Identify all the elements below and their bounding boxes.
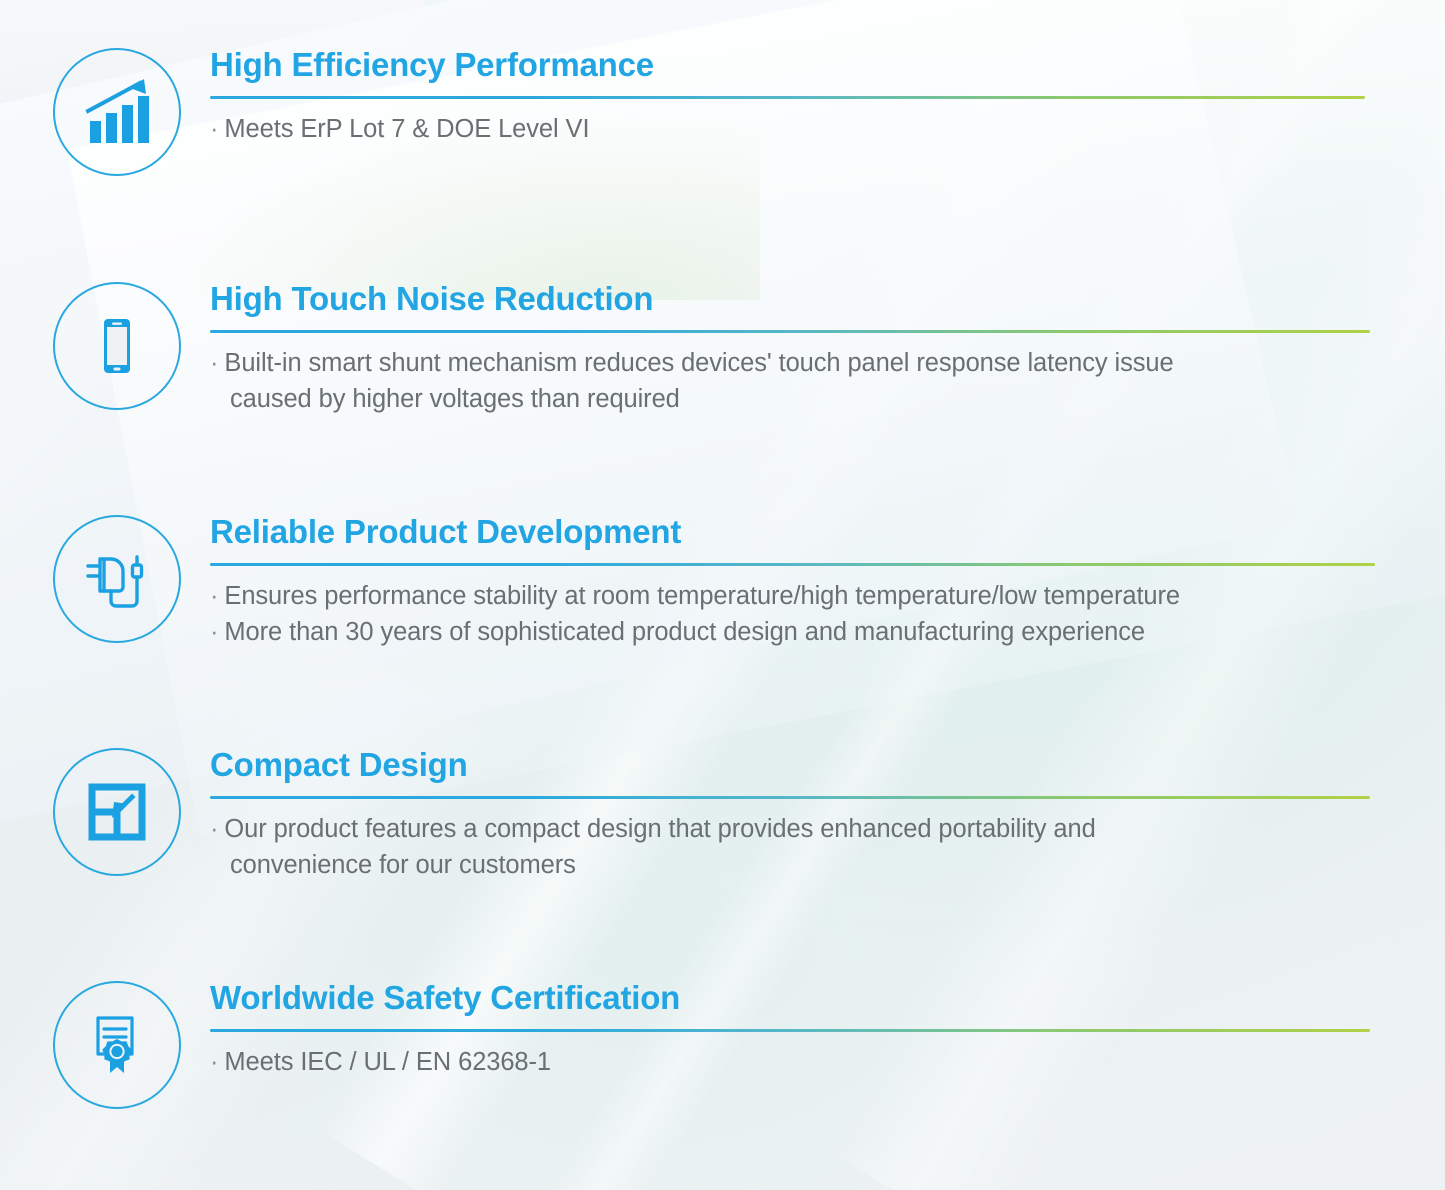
- bullet-item: ·Meets ErP Lot 7 & DOE Level VI: [210, 112, 1365, 148]
- bullet-item: ·Ensures performance stability at room t…: [210, 579, 1375, 615]
- feature-body: Worldwide Safety Certification ·Meets IE…: [210, 981, 1370, 1081]
- feature-title: High Touch Noise Reduction: [210, 282, 1370, 317]
- feature-bullets: ·Built-in smart shunt mechanism reduces …: [210, 346, 1370, 418]
- feature-item-high-efficiency-performance: High Efficiency Performance ·Meets ErP L…: [53, 48, 1365, 176]
- feature-title: Reliable Product Development: [210, 515, 1375, 550]
- bullet-dot: ·: [210, 349, 218, 377]
- feature-bullets: ·Meets ErP Lot 7 & DOE Level VI: [210, 112, 1365, 148]
- bullet-dot: ·: [210, 815, 218, 843]
- bullet-dot: ·: [210, 115, 218, 143]
- feature-item-worldwide-safety-certification: Worldwide Safety Certification ·Meets IE…: [53, 981, 1370, 1109]
- feature-bullets: ·Meets IEC / UL / EN 62368-1: [210, 1045, 1370, 1081]
- feature-divider: [210, 563, 1375, 566]
- feature-page: High Efficiency Performance ·Meets ErP L…: [0, 0, 1445, 1190]
- feature-title: Worldwide Safety Certification: [210, 981, 1370, 1016]
- feature-icon-wrap: [53, 515, 181, 643]
- feature-item-compact-design: Compact Design ·Our product features a c…: [53, 748, 1370, 884]
- bullet-text: Our product features a compact design th…: [224, 815, 1095, 843]
- smartphone-icon: [53, 282, 181, 410]
- bullet-text-line-2: convenience for our customers: [210, 848, 1370, 884]
- feature-icon-wrap: [53, 282, 181, 410]
- bullet-item: ·Built-in smart shunt mechanism reduces …: [210, 346, 1370, 418]
- bullet-text-line-2: caused by higher voltages than required: [210, 382, 1370, 418]
- feature-divider: [210, 1029, 1370, 1032]
- feature-divider: [210, 330, 1370, 333]
- feature-bullets: ·Our product features a compact design t…: [210, 812, 1370, 884]
- feature-body: High Touch Noise Reduction ·Built-in sma…: [210, 282, 1370, 418]
- feature-item-reliable-product-development: Reliable Product Development ·Ensures pe…: [53, 515, 1375, 651]
- feature-list: High Efficiency Performance ·Meets ErP L…: [0, 0, 1445, 1190]
- feature-body: Compact Design ·Our product features a c…: [210, 748, 1370, 884]
- bullet-item: ·Our product features a compact design t…: [210, 812, 1370, 884]
- certificate-award-icon: [53, 981, 181, 1109]
- feature-item-high-touch-noise-reduction: High Touch Noise Reduction ·Built-in sma…: [53, 282, 1370, 418]
- bullet-item: ·More than 30 years of sophisticated pro…: [210, 615, 1375, 651]
- feature-title: High Efficiency Performance: [210, 48, 1365, 83]
- feature-title: Compact Design: [210, 748, 1370, 783]
- feature-icon-wrap: [53, 48, 181, 176]
- feature-body: High Efficiency Performance ·Meets ErP L…: [210, 48, 1365, 148]
- feature-icon-wrap: [53, 748, 181, 876]
- bullet-dot: ·: [210, 582, 218, 610]
- bullet-dot: ·: [210, 1048, 218, 1076]
- bullet-text: Ensures performance stability at room te…: [224, 582, 1180, 610]
- bullet-text: More than 30 years of sophisticated prod…: [224, 618, 1145, 646]
- bullet-text: Meets ErP Lot 7 & DOE Level VI: [224, 115, 589, 143]
- feature-bullets: ·Ensures performance stability at room t…: [210, 579, 1375, 651]
- feature-body: Reliable Product Development ·Ensures pe…: [210, 515, 1375, 651]
- feature-divider: [210, 796, 1370, 799]
- bullet-text: Built-in smart shunt mechanism reduces d…: [224, 349, 1173, 377]
- bullet-dot: ·: [210, 618, 218, 646]
- bullet-text: Meets IEC / UL / EN 62368-1: [224, 1048, 551, 1076]
- power-adapter-icon: [53, 515, 181, 643]
- bar-chart-growth-icon: [53, 48, 181, 176]
- compact-resize-icon: [53, 748, 181, 876]
- feature-divider: [210, 96, 1365, 99]
- bullet-item: ·Meets IEC / UL / EN 62368-1: [210, 1045, 1370, 1081]
- feature-icon-wrap: [53, 981, 181, 1109]
